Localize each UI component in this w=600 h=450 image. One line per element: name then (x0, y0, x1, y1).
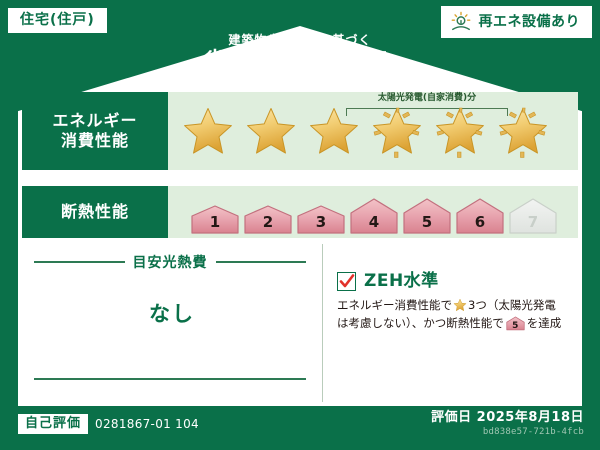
utility-cost-value: なし (22, 298, 322, 328)
zeh-desc-part3: を達成 (527, 316, 562, 330)
insulation-level-7: 7 (508, 196, 558, 234)
energy-star-2 (239, 101, 302, 161)
cost-heading-rule-left (34, 261, 125, 263)
energy-stars-area: 太陽光発電(自家消費)分 (168, 92, 578, 170)
insulation-level-3: 3 (296, 204, 346, 234)
zeh-description: エネルギー消費性能で3つ（太陽光発電 は考慮しない）、かつ断熱性能で5を達成 (337, 297, 572, 333)
utility-cost-heading-row: 目安光熱費 (22, 244, 322, 272)
insulation-level-number: 4 (349, 215, 399, 230)
sun-icon (450, 11, 472, 33)
evaluation-hash: bd838e57-721b-4fcb (431, 427, 584, 439)
energy-star-3 (302, 101, 365, 161)
insulation-level-number: 6 (455, 215, 505, 230)
energy-star-1 (176, 101, 239, 161)
zeh-desc-part1: エネルギー消費性能で (337, 298, 452, 312)
insulation-levels-area: 1 2 3 4 (168, 186, 578, 238)
inline-house-icon: 5 (506, 315, 525, 331)
self-evaluation-tag: 自己評価 (18, 414, 88, 434)
lower-section: 目安光熱費 なし ZEH水準 エネルギー消費性能で3つ（太陽光発電 (22, 244, 578, 402)
inline-star-icon (453, 298, 467, 312)
energy-performance-label: エネルギー 消費性能 (22, 92, 168, 170)
zeh-title: ZEH水準 (364, 273, 439, 290)
utility-cost-heading: 目安光熱費 (133, 252, 208, 272)
insulation-level-number: 1 (190, 215, 240, 230)
cost-bottom-rule (34, 378, 306, 380)
renewable-equipment-badge: 再エネ設備あり (441, 6, 593, 38)
energy-label-root: 住宅(住戸) 再エネ設備あり 建築物省エネ法に基づく 省エネ性能ラベル (0, 0, 600, 450)
energy-star-solar-6 (491, 101, 554, 161)
insulation-level-6: 6 (455, 196, 505, 234)
evaluation-date-group: 評価日 2025年8月18日 bd838e57-721b-4fcb (431, 410, 584, 439)
insulation-level-number: 3 (296, 215, 346, 230)
zeh-heading-row: ZEH水準 (337, 272, 572, 291)
insulation-level-number: 5 (402, 215, 452, 230)
insulation-label-text: 断熱性能 (61, 202, 129, 222)
insulation-performance-row: 断熱性能 (22, 186, 578, 238)
insulation-level-4: 4 (349, 196, 399, 234)
renewable-badge-label: 再エネ設備あり (479, 15, 581, 29)
utility-cost-section: 目安光熱費 なし (22, 244, 322, 402)
check-icon (339, 273, 355, 290)
zeh-desc-part2: は考慮しない）、かつ断熱性能で (337, 316, 504, 330)
self-evaluation-group: 自己評価 0281867-01 104 (18, 414, 199, 434)
inline-house-level: 5 (506, 322, 525, 331)
energy-label-line1: エネルギー (52, 111, 137, 131)
insulation-level-2: 2 (243, 204, 293, 234)
label-footer: 自己評価 0281867-01 104 評価日 2025年8月18日 bd838… (0, 406, 600, 450)
energy-star-solar-4 (365, 101, 428, 161)
energy-label-line2: 消費性能 (61, 131, 129, 151)
house-type-tag: 住宅(住戸) (8, 8, 107, 33)
insulation-performance-label: 断熱性能 (22, 186, 168, 238)
insulation-level-5: 5 (402, 196, 452, 234)
evaluation-date: 評価日 2025年8月18日 (431, 410, 584, 427)
insulation-level-number: 2 (243, 215, 293, 230)
panel-content: エネルギー 消費性能 太陽光発電(自家消費)分 (18, 26, 582, 406)
energy-performance-row: エネルギー 消費性能 太陽光発電(自家消費)分 (22, 92, 578, 170)
self-evaluation-code: 0281867-01 104 (95, 418, 199, 430)
cost-heading-rule-right (216, 261, 307, 263)
zeh-checkbox[interactable] (337, 272, 356, 291)
insulation-level-1: 1 (190, 204, 240, 234)
zeh-desc-stars: 3つ（太陽光発電 (468, 298, 556, 312)
zeh-section: ZEH水準 エネルギー消費性能で3つ（太陽光発電 は考慮しない）、かつ断熱性能で… (322, 244, 578, 402)
insulation-level-number: 7 (508, 215, 558, 230)
energy-star-solar-5 (428, 101, 491, 161)
